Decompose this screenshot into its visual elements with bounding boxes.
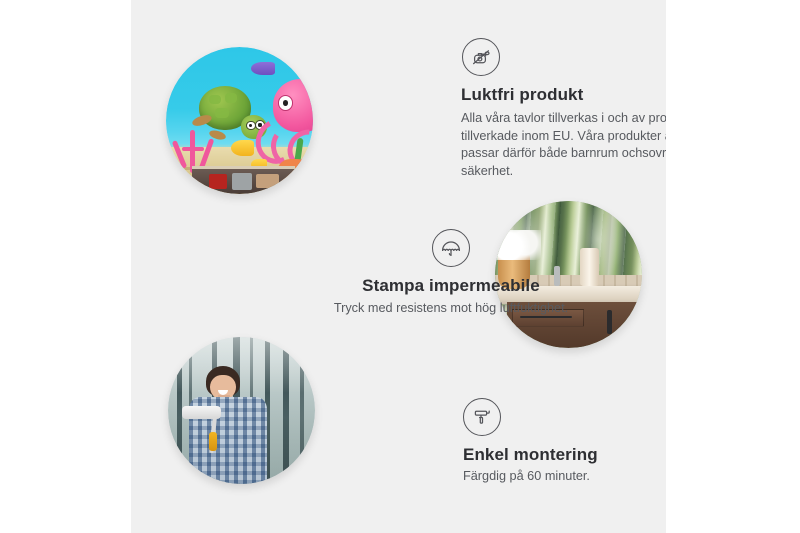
product-photo-underwater[interactable]: [166, 47, 313, 194]
paint-roller-icon: [463, 398, 501, 436]
product-photo-installer[interactable]: [168, 337, 315, 484]
feature-body: Tryck med resistens mot hög luftfuktighe…: [296, 300, 606, 318]
feature-title: Luktfri produkt: [461, 85, 666, 105]
product-feature-panel: Luktfri produkt Alla våra tavlor tillver…: [131, 0, 666, 533]
feature-title: Stampa impermeabile: [296, 276, 606, 296]
framed-picture-tan: [256, 174, 279, 188]
feature-waterproof: Stampa impermeabile Tryck med resistens …: [296, 229, 606, 318]
cabinet-handle: [607, 310, 612, 335]
installer-scene: [168, 337, 315, 484]
feature-body: Färgdig på 60 minuter.: [463, 468, 666, 486]
feature-odorless: Luktfri produkt Alla våra tavlor tillver…: [461, 38, 666, 180]
fish-yellow: [231, 140, 255, 156]
paint-roller-grip: [209, 432, 217, 451]
feature-title: Enkel montering: [463, 445, 666, 465]
coral-branch: [182, 147, 203, 151]
framed-picture-gray: [232, 173, 253, 190]
framed-pictures-strip: [192, 166, 295, 194]
framed-picture-red: [209, 174, 228, 189]
turtle-shell-mark: [225, 93, 237, 102]
woman-with-roller: [186, 366, 271, 484]
no-fragrance-icon: [462, 38, 500, 76]
underwater-scene: [166, 47, 313, 194]
octopus: [251, 79, 313, 161]
octopus-eye: [278, 95, 293, 111]
screenshot-stage: Luktfri produkt Alla våra tavlor tillver…: [0, 0, 800, 533]
turtle-shell-mark: [215, 108, 229, 119]
fish-purple: [251, 62, 275, 75]
coral-branch: [171, 141, 186, 170]
feature-easy-mounting: Enkel montering Färgdig på 60 minuter.: [463, 398, 666, 486]
feature-body: Alla våra tavlor tillverkas i och av pro…: [461, 110, 666, 180]
umbrella-icon: [432, 229, 470, 267]
turtle-shell-mark: [209, 95, 221, 104]
